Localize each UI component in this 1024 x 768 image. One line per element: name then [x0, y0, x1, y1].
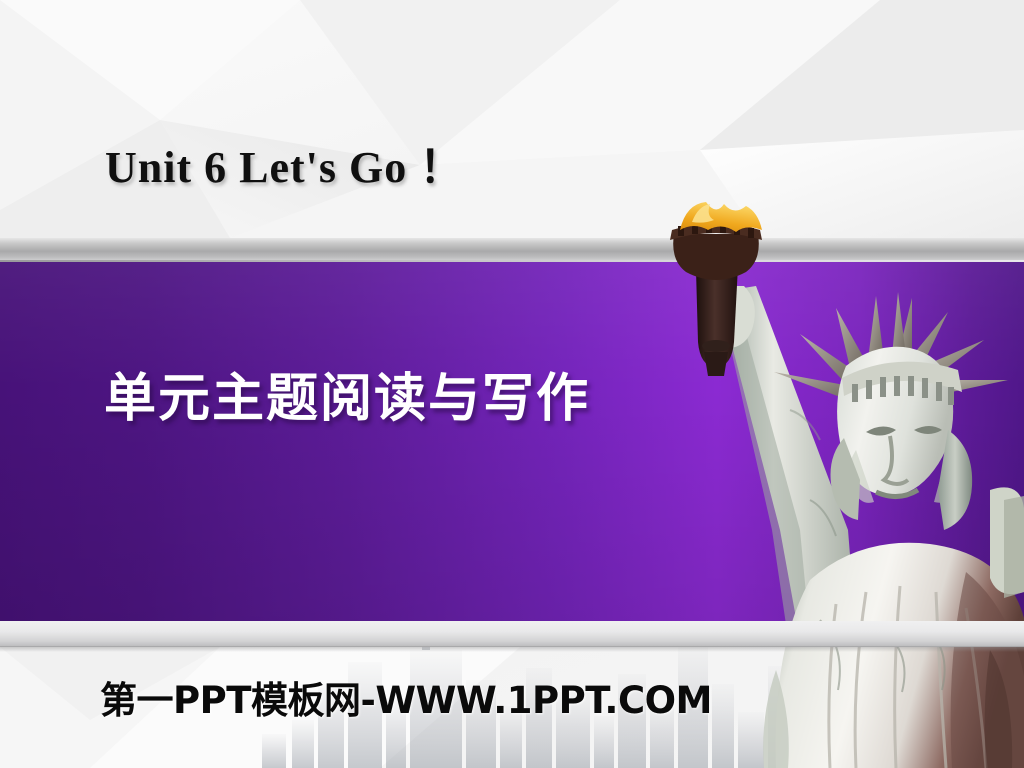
presentation-slide: Unit 6 Let's Go ！ 单元主题阅读与写作 第一PPT模板网-WWW…	[0, 0, 1024, 768]
statue-of-liberty-image	[660, 200, 1024, 768]
bottom-divider-strip	[0, 621, 1024, 647]
site-watermark: 第一PPT模板网-WWW.1PPT.COM	[100, 670, 712, 724]
chinese-subject-heading: 单元主题阅读与写作	[104, 356, 590, 431]
unit-title: Unit 6 Let's Go ！	[105, 131, 464, 195]
